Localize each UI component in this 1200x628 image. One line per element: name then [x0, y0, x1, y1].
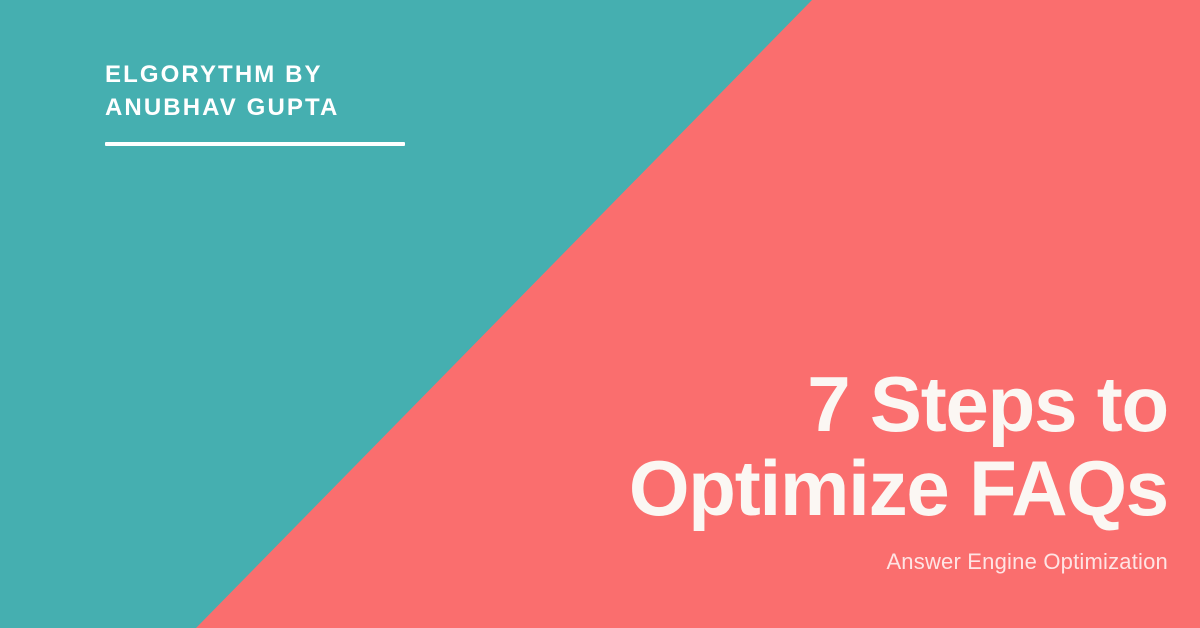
- brand-block: ELGORYTHM BY ANUBHAV GUPTA: [105, 58, 405, 146]
- headline-block: 7 Steps to Optimize FAQs Answer Engine O…: [629, 362, 1168, 576]
- brand-divider-rule: [105, 142, 405, 146]
- promo-banner: ELGORYTHM BY ANUBHAV GUPTA 7 Steps to Op…: [0, 0, 1200, 628]
- page-subtitle: Answer Engine Optimization: [629, 548, 1168, 576]
- brand-line-2: ANUBHAV GUPTA: [105, 91, 405, 124]
- title-line-2: Optimize FAQs: [629, 446, 1168, 530]
- page-title: 7 Steps to Optimize FAQs: [629, 362, 1168, 530]
- brand-line-1: ELGORYTHM BY: [105, 58, 405, 91]
- title-line-1: 7 Steps to: [629, 362, 1168, 446]
